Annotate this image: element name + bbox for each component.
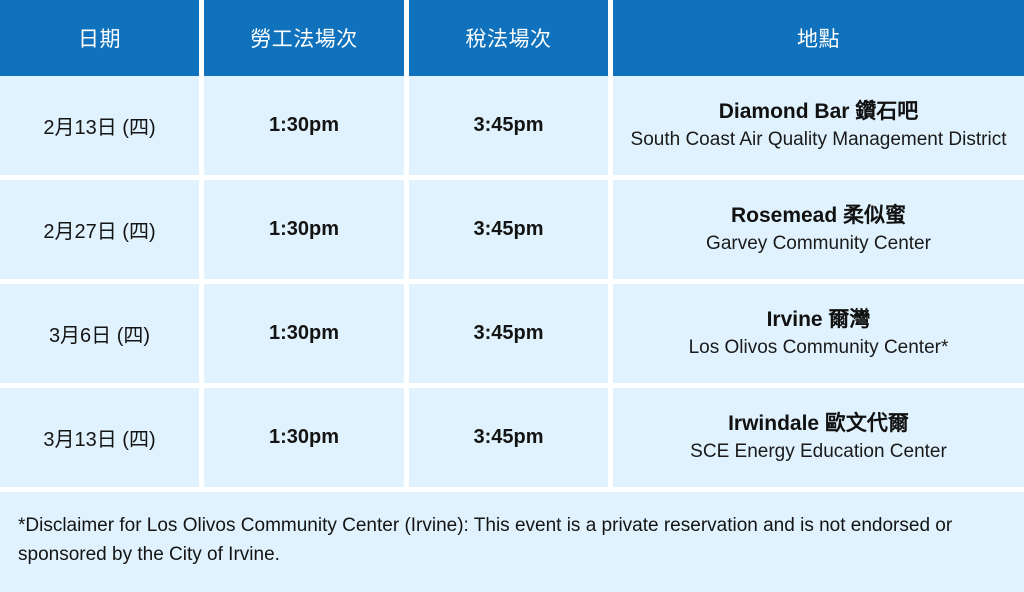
- place-venue: SCE Energy Education Center: [619, 440, 1018, 465]
- seminar-schedule: 日期 勞工法場次 稅法場次 地點 2月13日 (四) 1:30pm 3:45pm…: [0, 0, 1024, 592]
- schedule-table: 日期 勞工法場次 稅法場次 地點 2月13日 (四) 1:30pm 3:45pm…: [0, 0, 1024, 492]
- place-title: Irvine 爾灣: [619, 307, 1018, 334]
- header-row: 日期 勞工法場次 稅法場次 地點: [0, 0, 1024, 76]
- cell-labor-time: 1:30pm: [204, 180, 409, 284]
- column-header-tax: 稅法場次: [409, 0, 613, 76]
- place-venue: Los Olivos Community Center*: [619, 336, 1018, 361]
- cell-tax-time: 3:45pm: [409, 180, 613, 284]
- table-body: 2月13日 (四) 1:30pm 3:45pm Diamond Bar 鑽石吧 …: [0, 76, 1024, 492]
- cell-date: 2月13日 (四): [0, 76, 204, 180]
- cell-tax-time: 3:45pm: [409, 76, 613, 180]
- place-title: Diamond Bar 鑽石吧: [619, 99, 1018, 126]
- place-venue: South Coast Air Quality Management Distr…: [619, 128, 1018, 153]
- cell-tax-time: 3:45pm: [409, 388, 613, 492]
- table-row: 3月6日 (四) 1:30pm 3:45pm Irvine 爾灣 Los Oli…: [0, 284, 1024, 388]
- table-row: 3月13日 (四) 1:30pm 3:45pm Irwindale 歐文代爾 S…: [0, 388, 1024, 492]
- table-header: 日期 勞工法場次 稅法場次 地點: [0, 0, 1024, 76]
- cell-place: Diamond Bar 鑽石吧 South Coast Air Quality …: [613, 76, 1024, 180]
- cell-tax-time: 3:45pm: [409, 284, 613, 388]
- cell-place: Irvine 爾灣 Los Olivos Community Center*: [613, 284, 1024, 388]
- column-header-place: 地點: [613, 0, 1024, 76]
- place-venue: Garvey Community Center: [619, 232, 1018, 257]
- cell-place: Irwindale 歐文代爾 SCE Energy Education Cent…: [613, 388, 1024, 492]
- cell-date: 3月13日 (四): [0, 388, 204, 492]
- cell-labor-time: 1:30pm: [204, 76, 409, 180]
- cell-date: 2月27日 (四): [0, 180, 204, 284]
- table-row: 2月13日 (四) 1:30pm 3:45pm Diamond Bar 鑽石吧 …: [0, 76, 1024, 180]
- disclaimer-text: *Disclaimer for Los Olivos Community Cen…: [18, 511, 1000, 570]
- place-title: Irwindale 歐文代爾: [619, 411, 1018, 438]
- disclaimer-section: *Disclaimer for Los Olivos Community Cen…: [0, 492, 1024, 592]
- table-row: 2月27日 (四) 1:30pm 3:45pm Rosemead 柔似蜜 Gar…: [0, 180, 1024, 284]
- column-header-labor: 勞工法場次: [204, 0, 409, 76]
- column-header-date: 日期: [0, 0, 204, 76]
- cell-place: Rosemead 柔似蜜 Garvey Community Center: [613, 180, 1024, 284]
- cell-date: 3月6日 (四): [0, 284, 204, 388]
- cell-labor-time: 1:30pm: [204, 284, 409, 388]
- place-title: Rosemead 柔似蜜: [619, 203, 1018, 230]
- cell-labor-time: 1:30pm: [204, 388, 409, 492]
